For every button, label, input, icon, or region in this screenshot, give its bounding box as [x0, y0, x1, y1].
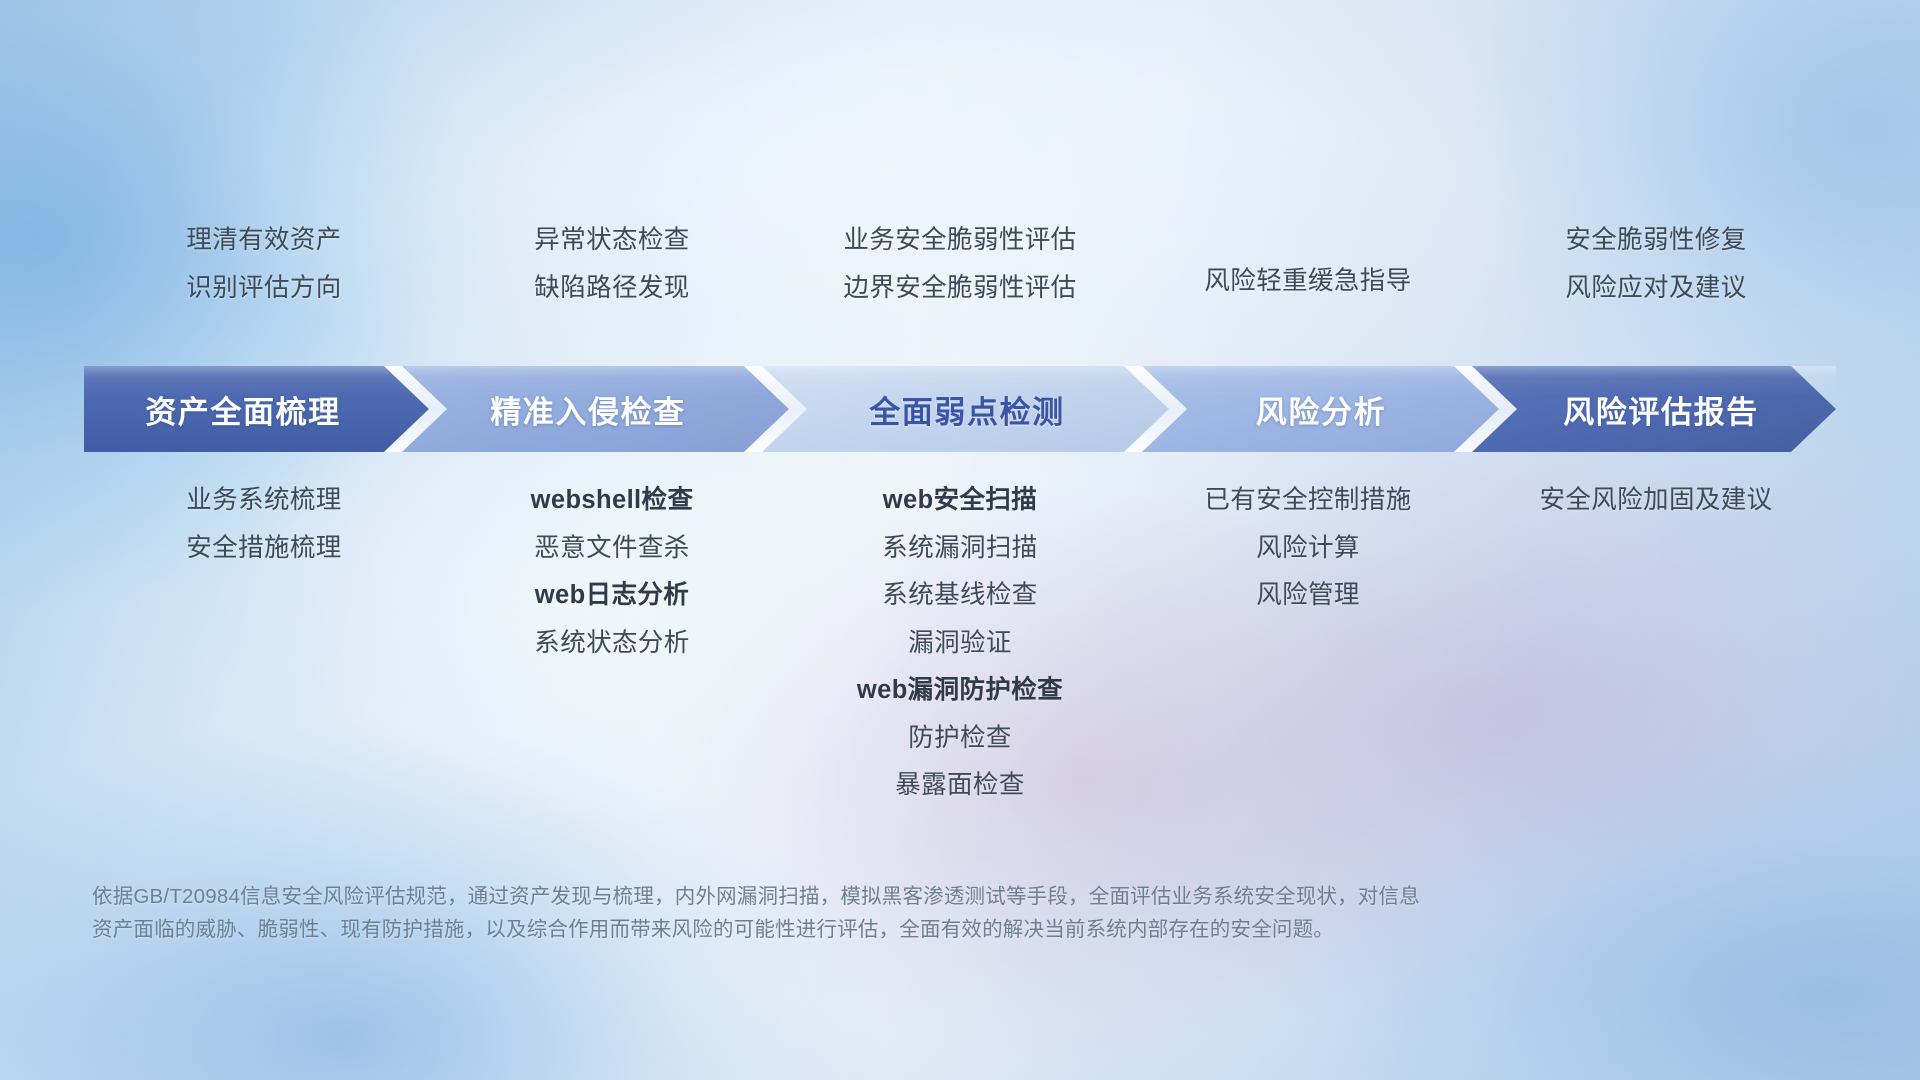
- process-diagram: 理清有效资产 识别评估方向 异常状态检查 缺陷路径发现 业务安全脆弱性评估 边界…: [0, 0, 1920, 1080]
- stage-title-asset-inventory[interactable]: 资产全面梳理: [84, 366, 402, 452]
- top-label-row: 理清有效资产 识别评估方向 异常状态检查 缺陷路径发现 业务安全脆弱性评估 边界…: [90, 228, 1830, 336]
- bottom-item: 暴露面检查: [895, 773, 1025, 799]
- bottom-item: 防护检查: [908, 726, 1012, 752]
- top-item: 风险应对及建议: [1565, 276, 1746, 302]
- top-item: 理清有效资产: [186, 228, 341, 254]
- bottom-item: 安全风险加固及建议: [1539, 488, 1772, 514]
- top-column-risk-report: 安全脆弱性修复 风险应对及建议: [1482, 228, 1830, 336]
- stage-title-risk-analysis[interactable]: 风险分析: [1162, 366, 1480, 452]
- top-item: 业务安全脆弱性评估: [843, 228, 1076, 254]
- top-item: 安全脆弱性修复: [1565, 228, 1746, 254]
- bottom-label-row: 业务系统梳理 安全措施梳理 webshell检查 恶意文件查杀 web日志分析 …: [90, 488, 1830, 821]
- bottom-item: 系统基线检查: [882, 583, 1037, 609]
- bottom-item: 安全措施梳理: [186, 536, 341, 562]
- bottom-item: 系统状态分析: [534, 631, 689, 657]
- top-item: 缺陷路径发现: [534, 276, 689, 302]
- top-column-intrusion-check: 异常状态检查 缺陷路径发现: [438, 228, 786, 336]
- footer-line-2: 资产面临的威胁、脆弱性、现有防护措施，以及综合作用而带来风险的可能性进行评估，全…: [92, 913, 1592, 946]
- bottom-item: 漏洞验证: [908, 631, 1012, 657]
- bottom-item: webshell检查: [531, 488, 694, 514]
- bottom-column-risk-report: 安全风险加固及建议: [1482, 488, 1830, 821]
- bottom-item: 风险计算: [1256, 536, 1360, 562]
- bottom-column-risk-analysis: 已有安全控制措施 风险计算 风险管理: [1134, 488, 1482, 821]
- bottom-item: 风险管理: [1256, 583, 1360, 609]
- bottom-item: 已有安全控制措施: [1204, 488, 1411, 514]
- bottom-item: 业务系统梳理: [186, 488, 341, 514]
- top-column-asset-inventory: 理清有效资产 识别评估方向: [90, 228, 438, 336]
- footer-description: 依据GB/T20984信息安全风险评估规范，通过资产发现与梳理，内外网漏洞扫描，…: [92, 880, 1592, 946]
- top-item: 异常状态检查: [534, 228, 689, 254]
- bottom-column-weakness-detection: web安全扫描 系统漏洞扫描 系统基线检查 漏洞验证 web漏洞防护检查 防护检…: [786, 488, 1134, 821]
- footer-line-1: 依据GB/T20984信息安全风险评估规范，通过资产发现与梳理，内外网漏洞扫描，…: [92, 880, 1592, 913]
- bottom-item: 恶意文件查杀: [534, 536, 689, 562]
- bottom-item: web安全扫描: [883, 488, 1037, 514]
- stage-title-weakness-detection[interactable]: 全面弱点检测: [784, 366, 1150, 452]
- bottom-item: web漏洞防护检查: [857, 678, 1063, 704]
- bottom-column-asset-inventory: 业务系统梳理 安全措施梳理: [90, 488, 438, 821]
- top-item: 边界安全脆弱性评估: [843, 276, 1076, 302]
- top-item: 风险轻重缓急指导: [1204, 269, 1411, 295]
- top-column-risk-analysis: 风险轻重缓急指导: [1134, 228, 1482, 336]
- top-column-weakness-detection: 业务安全脆弱性评估 边界安全脆弱性评估: [786, 228, 1134, 336]
- top-item: 识别评估方向: [186, 276, 341, 302]
- bottom-item: web日志分析: [535, 583, 689, 609]
- stage-title-intrusion-check[interactable]: 精准入侵检查: [414, 366, 762, 452]
- bottom-item: 系统漏洞扫描: [882, 536, 1037, 562]
- stage-title-risk-report[interactable]: 风险评估报告: [1496, 366, 1826, 452]
- bottom-column-intrusion-check: webshell检查 恶意文件查杀 web日志分析 系统状态分析: [438, 488, 786, 821]
- stage-chevron-banner: 资产全面梳理 精准入侵检查 全面弱点检测 风险分析 风险评估报告: [84, 366, 1836, 452]
